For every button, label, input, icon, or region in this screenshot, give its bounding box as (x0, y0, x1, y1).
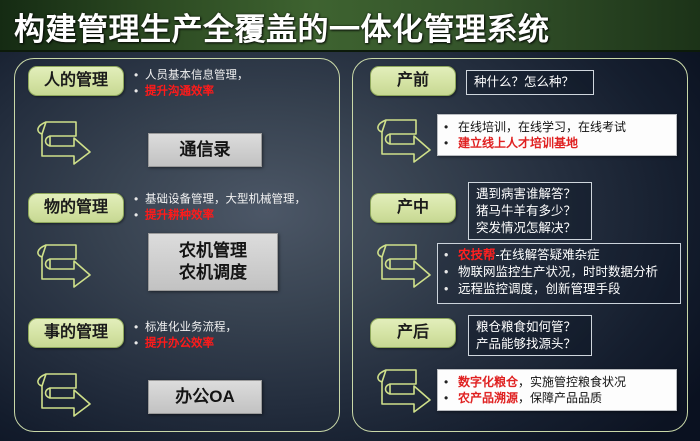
list-item: •农产品溯源，保障产品品质 (444, 390, 670, 406)
bullets-wu-de-guanli: •基础设备管理，大型机械管理， •提升耕种效率 (134, 192, 306, 223)
bullet-text: 物联网监控生产状况，时时数据分析 (458, 265, 658, 279)
bullet-dot-icon: • (134, 68, 145, 83)
slide-canvas: 构建管理生产全覆盖的一体化管理系统 人的管理 •人员基本信息管理， •提升沟通效… (0, 0, 700, 441)
list-item: •提升耕种效率 (134, 208, 306, 224)
answer-box-chanzhong[interactable]: •农技帮-在线解答疑难杂症 •物联网监控生产状况，时时数据分析 •远程监控调度，… (437, 243, 681, 304)
bullets-shi-de-guanli: •标准化业务流程， •提升办公效率 (134, 320, 237, 351)
list-item: •远程监控调度，创新管理手段 (444, 281, 674, 298)
question-line: 粮仓粮食如何管？ (476, 319, 584, 336)
list-item: •提升办公效率 (134, 336, 237, 352)
tag-shi-de-guanli[interactable]: 事的管理 (28, 318, 124, 348)
page-title: 构建管理生产全覆盖的一体化管理系统 (14, 4, 550, 49)
bullet-text-highlight: 提升沟通效率 (145, 85, 214, 97)
bullet-text: ，保障产品品质 (518, 391, 602, 405)
question-line: 突发情况怎解决？ (476, 220, 584, 237)
bullet-dot-icon: • (134, 84, 145, 99)
list-item: •标准化业务流程， (134, 320, 237, 336)
bullet-text: 远程监控调度，创新管理手段 (458, 282, 621, 296)
question-box-chanzhong: 遇到病害谁解答？ 猪马牛羊有多少？ 突发情况怎解决？ (468, 182, 592, 240)
result-box-line: 农机管理 (179, 240, 247, 262)
tag-wu-de-guanli[interactable]: 物的管理 (28, 193, 124, 223)
tag-chanhou[interactable]: 产后 (370, 318, 456, 348)
list-item: •人员基本信息管理， (134, 68, 249, 84)
bullet-dot-icon: • (444, 390, 458, 406)
list-item: •提升沟通效率 (134, 84, 249, 100)
result-box-line: 办公OA (175, 386, 235, 408)
result-box-line: 通信录 (180, 139, 231, 161)
bullet-dot-icon: • (134, 320, 145, 335)
question-box-chanhou: 粮仓粮食如何管？ 产品能够找源头？ (468, 315, 592, 356)
bullet-dot-icon: • (444, 119, 458, 135)
question-line: 种什么？怎么种？ (474, 74, 586, 91)
result-box-line: 农机调度 (179, 262, 247, 284)
bullet-dot-icon: • (444, 374, 458, 390)
bullet-text: -在线解答疑难杂症 (496, 248, 600, 262)
question-line: 产品能够找源头？ (476, 336, 584, 353)
bullet-text: 基础设备管理，大型机械管理， (145, 194, 306, 206)
list-item: •基础设备管理，大型机械管理， (134, 192, 306, 208)
tag-chanzhong[interactable]: 产中 (370, 193, 456, 223)
bullet-dot-icon: • (134, 192, 145, 207)
answer-box-chanqian[interactable]: •在线培训，在线学习，在线考试 •建立线上人才培训基地 (437, 114, 677, 156)
bullets-ren-de-guanli: •人员基本信息管理， •提升沟通效率 (134, 68, 249, 99)
list-item: •数字化粮仓，实施管控粮食状况 (444, 374, 670, 390)
title-bar: 构建管理生产全覆盖的一体化管理系统 (0, 0, 700, 52)
bullet-text: ，实施管控粮食状况 (518, 375, 626, 389)
bullet-dot-icon: • (444, 281, 458, 298)
bullet-dot-icon: • (444, 247, 458, 264)
bullet-text-highlight: 提升办公效率 (145, 337, 214, 349)
list-item: •建立线上人才培训基地 (444, 135, 670, 151)
list-item: •在线培训，在线学习，在线考试 (444, 119, 670, 135)
result-box-nongji[interactable]: 农机管理 农机调度 (148, 233, 278, 291)
bullet-dot-icon: • (134, 336, 145, 351)
bullet-text-highlight: 农技帮 (458, 248, 496, 262)
question-box-chanqian: 种什么？怎么种？ (466, 70, 594, 95)
bullet-dot-icon: • (444, 135, 458, 151)
bullet-text: 人员基本信息管理， (145, 70, 249, 82)
question-line: 猪马牛羊有多少？ (476, 203, 584, 220)
bullet-text-highlight: 提升耕种效率 (145, 209, 214, 221)
answer-box-chanhou[interactable]: •数字化粮仓，实施管控粮食状况 •农产品溯源，保障产品品质 (437, 369, 677, 411)
bullet-text-highlight: 农产品溯源 (458, 391, 518, 405)
bullet-dot-icon: • (444, 264, 458, 281)
tag-ren-de-guanli[interactable]: 人的管理 (28, 66, 124, 96)
bullet-text: 在线培训，在线学习，在线考试 (458, 120, 626, 134)
tag-chanqian[interactable]: 产前 (370, 66, 456, 96)
bullet-text: 标准化业务流程， (145, 322, 237, 334)
list-item: •物联网监控生产状况，时时数据分析 (444, 264, 674, 281)
result-box-bangong-oa[interactable]: 办公OA (148, 380, 262, 414)
bullet-dot-icon: • (134, 208, 145, 223)
result-box-tongxinlu[interactable]: 通信录 (148, 133, 262, 167)
list-item: •农技帮-在线解答疑难杂症 (444, 247, 674, 264)
question-line: 遇到病害谁解答？ (476, 186, 584, 203)
bullet-text-highlight: 建立线上人才培训基地 (458, 136, 578, 150)
bullet-text-highlight: 数字化粮仓 (458, 375, 518, 389)
